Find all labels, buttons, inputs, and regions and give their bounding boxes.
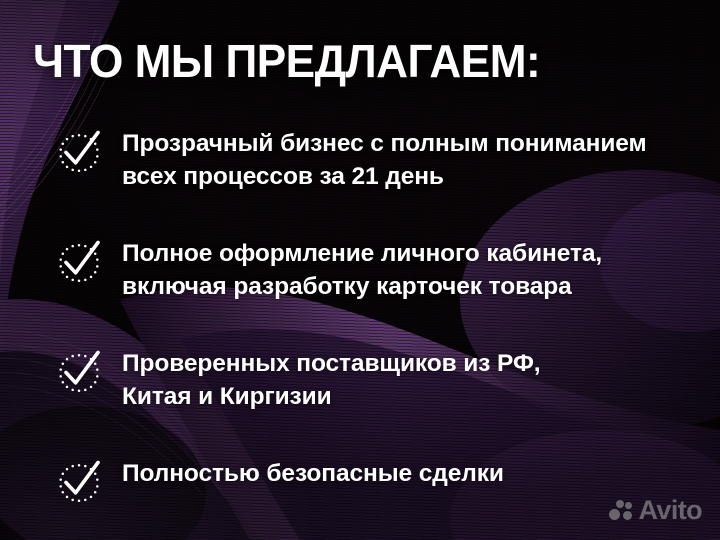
list-item-label: Прозрачный бизнес с полным пониманием вс… xyxy=(122,125,707,193)
promo-banner: ЧТО МЫ ПРЕДЛАГАЕМ: xyxy=(0,0,720,540)
check-circle-dotted-icon xyxy=(57,241,101,285)
avito-wordmark: Avito xyxy=(639,497,703,524)
list-item: Проверенных поставщиков из РФ, Китая и К… xyxy=(57,345,707,455)
banner-content: ЧТО МЫ ПРЕДЛАГАЕМ: xyxy=(0,0,720,540)
check-circle-dotted-icon xyxy=(57,351,101,395)
list-item-label: Проверенных поставщиков из РФ, Китая и К… xyxy=(122,345,707,413)
list-item: Полное оформление личного кабинета, вклю… xyxy=(57,235,707,345)
check-circle-dotted-icon xyxy=(57,131,101,175)
list-item-label: Полностью безопасные сделки xyxy=(122,455,707,490)
page-title: ЧТО МЫ ПРЕДЛАГАЕМ: xyxy=(33,34,540,88)
benefits-list: Прозрачный бизнес с полным пониманием вс… xyxy=(57,125,707,515)
list-item: Прозрачный бизнес с полным пониманием вс… xyxy=(57,125,707,235)
list-item-label: Полное оформление личного кабинета, вклю… xyxy=(122,235,707,303)
avito-watermark: Avito xyxy=(609,497,703,524)
avito-dots-icon xyxy=(609,500,633,522)
check-circle-dotted-icon xyxy=(57,461,101,505)
